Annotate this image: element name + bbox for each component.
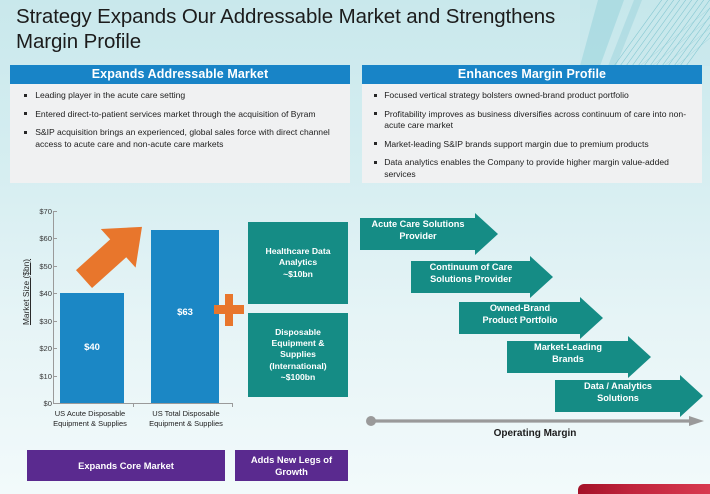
bullet-text: Leading player in the acute care setting [35, 90, 342, 102]
bullet-square-icon [374, 142, 377, 145]
y-tick-mark [53, 293, 57, 294]
x-category-label: US Total Disposable Equipment & Supplies [140, 409, 232, 428]
y-tick-mark [53, 321, 57, 322]
chevron-label-line: Acute Care Solutions [362, 219, 474, 231]
market-box-disposable-equipment-international: Disposable Equipment & Supplies (Interna… [248, 313, 348, 397]
y-tick: $50 [22, 262, 52, 271]
list-item: Data analytics enables the Company to pr… [368, 157, 694, 180]
y-tick-mark [53, 266, 57, 267]
y-tick: $70 [22, 207, 52, 216]
y-tick-mark [53, 238, 57, 239]
chevron-label-line: Solutions [557, 393, 679, 405]
plus-sign-icon [214, 294, 244, 331]
panel-left-bullet-list: Leading player in the acute care setting… [10, 84, 350, 150]
list-item: Market-leading S&IP brands support margi… [368, 139, 694, 151]
footer-box-label: Expands Core Market [78, 460, 174, 472]
page-title: Strategy Expands Our Addressable Market … [16, 4, 616, 54]
chevron-label-line: Owned-Brand [461, 303, 579, 315]
footer-box-adds-new-legs-of-growth: Adds New Legs of Growth [235, 450, 348, 481]
bullet-text: Focused vertical strategy bolsters owned… [384, 90, 694, 102]
red-accent-bar [578, 484, 710, 494]
list-item: Profitability improves as business diver… [368, 109, 694, 132]
chevron-label-line: Provider [362, 231, 474, 243]
panel-right-header: Enhances Margin Profile [362, 65, 702, 84]
y-tick: $40 [22, 289, 52, 298]
market-box-line: Analytics [266, 257, 331, 268]
bullet-square-icon [24, 131, 27, 134]
x-tick-mark [133, 403, 134, 407]
chevron-label: Data / Analytics Solutions [557, 381, 679, 405]
market-box-healthcare-data-analytics: Healthcare Data Analytics ~$10bn [248, 222, 348, 304]
bullet-text: Data analytics enables the Company to pr… [384, 157, 694, 180]
bullet-text: Market-leading S&IP brands support margi… [384, 139, 694, 151]
market-box-line: Supplies [269, 349, 326, 360]
panel-left-header: Expands Addressable Market [10, 65, 350, 84]
operating-margin-axis-arrow-icon [366, 414, 704, 426]
footer-box-expands-core-market: Expands Core Market [27, 450, 225, 481]
bullet-square-icon [24, 112, 27, 115]
chevron-label-line: Market-Leading [509, 342, 627, 354]
y-tick: $10 [22, 372, 52, 381]
y-tick: $30 [22, 317, 52, 326]
chevron-label-line: Data / Analytics [557, 381, 679, 393]
bullet-square-icon [24, 94, 27, 97]
panel-right-bullet-list: Focused vertical strategy bolsters owned… [362, 84, 702, 180]
chevron-label-line: Continuum of Care [413, 262, 529, 274]
list-item: S&IP acquisition brings an experienced, … [16, 127, 342, 150]
chevron-label: Continuum of Care Solutions Provider [413, 262, 529, 286]
chevron-label: Market-Leading Brands [509, 342, 627, 366]
bullet-square-icon [374, 94, 377, 97]
list-item: Entered direct-to-patient services marke… [16, 109, 342, 121]
chart-y-tick-labels: $70 $60 $50 $40 $30 $20 $10 $0 [20, 203, 52, 403]
y-tick: $60 [22, 234, 52, 243]
market-box-line: Disposable [269, 327, 326, 338]
chevron-label-line: Product Portfolio [461, 315, 579, 327]
panel-enhances-margin-profile: Enhances Margin Profile Focused vertical… [362, 65, 702, 183]
bullet-text: Profitability improves as business diver… [384, 109, 694, 132]
bar-value-label: $63 [155, 307, 215, 318]
market-box-line: Healthcare Data [266, 246, 331, 257]
y-tick: $20 [22, 344, 52, 353]
bar-value-label: $40 [62, 342, 122, 353]
bullet-square-icon [374, 161, 377, 164]
chevron-label-line: Brands [509, 354, 627, 366]
market-size-bar-chart: Market Size ($bn) $70 $60 $50 $40 $30 $2… [8, 203, 240, 431]
margin-ladder-chevrons: Acute Care Solutions Provider Continuum … [360, 205, 710, 420]
chart-x-axis-line [53, 403, 233, 404]
panel-expands-addressable-market: Expands Addressable Market Leading playe… [10, 65, 350, 183]
bullet-text: Entered direct-to-patient services marke… [35, 109, 342, 121]
operating-margin-label: Operating Margin [366, 428, 704, 439]
market-box-line: ~$10bn [266, 269, 331, 280]
y-tick-mark [53, 211, 57, 212]
y-tick-mark [53, 376, 57, 377]
x-category-label: US Acute Disposable Equipment & Supplies [44, 409, 136, 428]
market-box-line: (International) [269, 361, 326, 372]
y-tick: $0 [22, 399, 52, 408]
chevron-label: Owned-Brand Product Portfolio [461, 303, 579, 327]
list-item: Focused vertical strategy bolsters owned… [368, 90, 694, 102]
bullet-text: S&IP acquisition brings an experienced, … [35, 127, 342, 150]
chevron-label-line: Solutions Provider [413, 274, 529, 286]
list-item: Leading player in the acute care setting [16, 90, 342, 102]
footer-box-label: Adds New Legs of Growth [235, 454, 348, 477]
bullet-square-icon [374, 112, 377, 115]
market-box-line: Equipment & [269, 338, 326, 349]
x-tick-mark [232, 403, 233, 407]
market-box-line: ~$100bn [269, 372, 326, 383]
growth-arrow-icon [68, 213, 158, 298]
y-tick-mark [53, 348, 57, 349]
chevron-label: Acute Care Solutions Provider [362, 219, 474, 243]
